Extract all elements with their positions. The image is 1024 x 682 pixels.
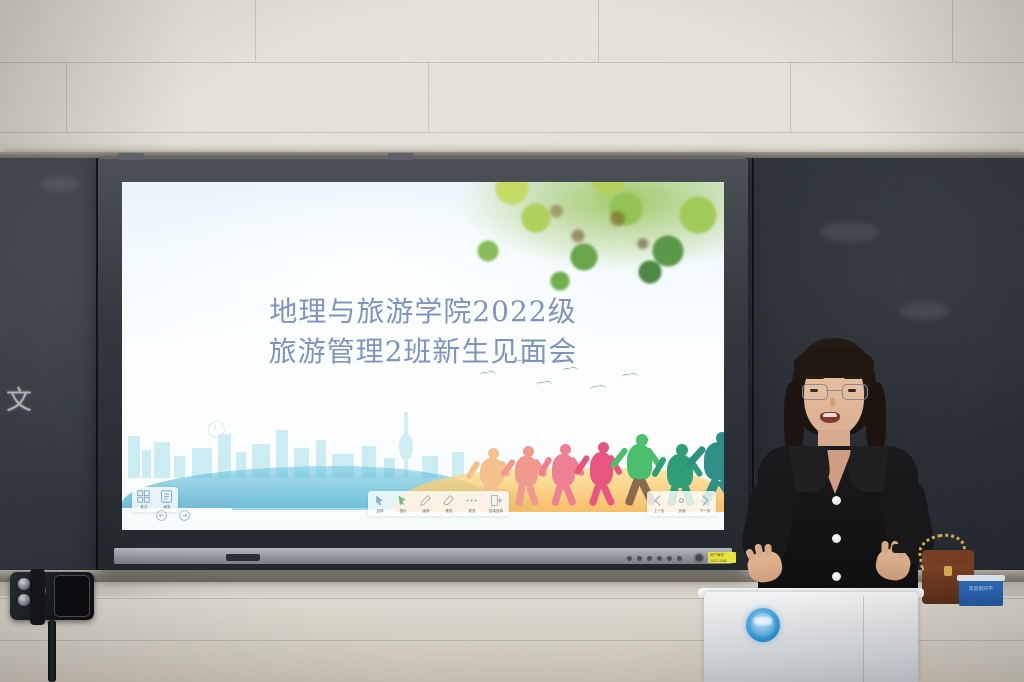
cursor-select-icon — [373, 494, 386, 507]
clock-icon — [208, 421, 225, 438]
tripod-pole — [48, 620, 56, 682]
podium — [704, 592, 918, 682]
note-icon — [160, 490, 173, 503]
toolbar-item-select[interactable]: 选择 — [368, 491, 391, 516]
slide-toolbar-undo-redo[interactable] — [150, 506, 196, 524]
slide-toolbar-nav[interactable]: 上一页 页面 下一页 — [647, 491, 716, 516]
display-button-row[interactable] — [627, 556, 682, 561]
dot-icon — [675, 494, 688, 507]
toolbar-item-label: 批注 — [140, 504, 147, 509]
pen-icon — [419, 494, 432, 507]
power-button[interactable] — [694, 553, 704, 563]
toolbar-item-label: 更多 — [468, 508, 475, 513]
toolbar-item-label: 选择 — [376, 508, 383, 513]
display-button[interactable] — [667, 556, 672, 561]
slide-toolbar-center[interactable]: 选择 指针 画笔 橡皮 — [368, 491, 509, 516]
smartphone[interactable] — [10, 572, 94, 620]
asset-sticker-line2: 2021-0386 — [708, 558, 736, 564]
chevron-right-icon — [698, 494, 711, 507]
exit-icon — [490, 494, 503, 507]
wristband — [892, 544, 914, 553]
dress-button — [832, 534, 841, 543]
wall-seam — [598, 0, 599, 62]
page-indicator[interactable]: 页面 — [670, 491, 693, 516]
dress-button — [832, 572, 841, 581]
pointer-icon — [396, 494, 409, 507]
toolbar-item-label: 橡皮 — [445, 508, 452, 513]
next-slide-button[interactable]: 下一页 — [693, 491, 716, 516]
wall-seam — [790, 62, 791, 132]
ir-sensor-icon — [226, 554, 260, 561]
layout-grid-icon — [137, 490, 150, 503]
display-button[interactable] — [657, 556, 662, 561]
bird-icon — [622, 373, 632, 380]
slide-title: 地理与旅游学院2022级 旅游管理2班新生见面会 — [122, 292, 724, 372]
display-button[interactable] — [627, 556, 632, 561]
nose — [830, 398, 835, 407]
eyebrow — [806, 376, 824, 379]
display-button[interactable] — [677, 556, 682, 561]
redo-icon — [178, 509, 191, 522]
dress-button — [832, 496, 841, 505]
chevron-left-icon — [652, 494, 665, 507]
hair-side — [784, 382, 804, 456]
ellipsis-icon — [465, 494, 478, 507]
wall-seam — [255, 0, 256, 62]
toolbar-item-pointer[interactable]: 指针 — [391, 491, 414, 516]
camera-lens-icon — [18, 578, 30, 590]
wall-mount-bracket — [118, 153, 144, 160]
display-button[interactable] — [647, 556, 652, 561]
wall-seam — [428, 62, 429, 132]
display-button[interactable] — [637, 556, 642, 561]
wall-seam — [0, 62, 1024, 63]
glasses-icon — [802, 384, 866, 398]
toolbar-item-pen[interactable]: 画笔 — [414, 491, 437, 516]
chalk-character: 文 — [6, 380, 32, 417]
eraser-icon — [442, 494, 455, 507]
university-emblem-icon — [746, 608, 780, 642]
toolbar-item-label: 画笔 — [422, 508, 429, 513]
undo-button[interactable] — [150, 506, 173, 524]
presenter — [744, 338, 934, 608]
eyebrow — [844, 376, 862, 379]
bird-icon — [536, 381, 546, 388]
bag-flap — [922, 550, 974, 566]
wall-seam — [952, 0, 953, 62]
phone-clamp — [30, 569, 45, 625]
redo-button[interactable] — [173, 506, 196, 524]
foliage-branches — [524, 188, 704, 284]
presentation-screen[interactable]: 地理与旅游学院2022级 旅游管理2班新生见面会 批注 — [122, 182, 724, 530]
toolbar-item-more[interactable]: 更多 — [460, 491, 483, 516]
bird-icon — [480, 371, 490, 378]
undo-icon — [155, 509, 168, 522]
blue-box-text: 欢迎新同学 — [959, 580, 1003, 592]
toolbar-item-label: 页面 — [678, 508, 685, 513]
toolbar-item-label: 指针 — [399, 508, 406, 513]
toolbar-item-label: 结束放映 — [489, 508, 503, 513]
wall-seam — [0, 132, 1024, 133]
tv-tower-graphic — [404, 412, 408, 478]
toolbar-item-label: 上一页 — [653, 508, 664, 513]
wall-mount-bracket — [388, 153, 414, 160]
blue-sign-box: 欢迎新同学 — [959, 580, 1003, 606]
bangs — [794, 348, 874, 378]
classroom-scene: 文 — [0, 0, 1024, 682]
mouth — [820, 412, 840, 423]
hair-side — [866, 382, 886, 456]
tripod-stand — [4, 572, 104, 682]
wall-seam — [66, 62, 67, 132]
asset-sticker: 资产编号 2021-0386 — [708, 552, 736, 563]
bag-clasp — [944, 566, 952, 576]
toolbar-item-eraser[interactable]: 橡皮 — [437, 491, 460, 516]
interactive-display[interactable]: 地理与旅游学院2022级 旅游管理2班新生见面会 批注 — [98, 158, 748, 570]
bird-icon — [590, 385, 600, 392]
toolbar-item-exit[interactable]: 结束放映 — [483, 491, 509, 516]
camera-lens-icon — [18, 594, 30, 606]
toolbar-item-label: 下一页 — [699, 508, 710, 513]
phone-screen[interactable] — [54, 575, 90, 617]
prev-slide-button[interactable]: 上一页 — [647, 491, 670, 516]
